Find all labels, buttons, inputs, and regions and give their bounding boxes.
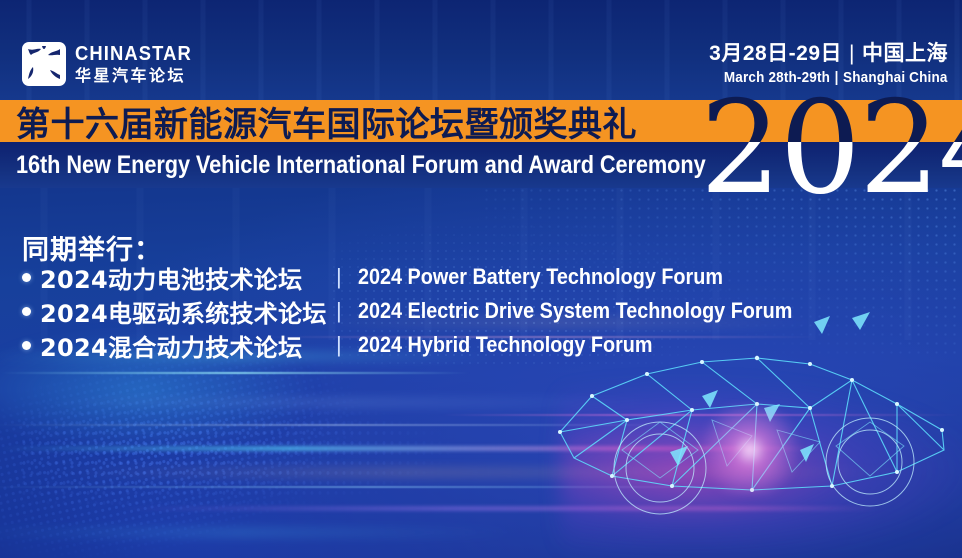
forum-divider: | (336, 332, 342, 358)
chinastar-logo[interactable]: CHINASTAR 华星汽车论坛 (22, 42, 202, 86)
forum-divider: | (336, 298, 342, 324)
forum-name-chinese: 2024混合动力技术论坛 (40, 328, 336, 363)
forum-list-item: 2024电驱动系统技术论坛 | 2024 Electric Drive Syst… (22, 296, 840, 326)
location-en-value: Shanghai China (843, 69, 948, 86)
forum-name-chinese: 2024电驱动系统技术论坛 (40, 294, 336, 329)
forum-divider: | (336, 264, 342, 290)
date-english-line: March 28th-29th|Shanghai China (724, 69, 948, 86)
forum-name-chinese: 2024动力电池技术论坛 (40, 260, 336, 295)
forum-name-english: 2024 Electric Drive System Technology Fo… (358, 298, 792, 324)
forum-name-english: 2024 Hybrid Technology Forum (358, 332, 652, 358)
location-cn-value: 中国上海 (862, 42, 948, 65)
date-cn-separator: | (842, 42, 862, 65)
date-en-separator: | (830, 69, 843, 86)
date-chinese-line: 3月28日-29日|中国上海 (699, 42, 948, 66)
date-location-block: 3月28日-29日|中国上海 March 28th-29th|Shanghai … (699, 42, 948, 86)
glow-hotspot (690, 405, 810, 495)
bullet-icon (22, 341, 31, 350)
event-banner: CHINASTAR 华星汽车论坛 3月28日-29日|中国上海 March 28… (0, 0, 962, 558)
concurrent-forum-list: 2024动力电池技术论坛 | 2024 Power Battery Techno… (22, 262, 840, 364)
bullet-icon (22, 273, 31, 282)
logo-chinese-name: 华星汽车论坛 (75, 69, 202, 85)
main-title-chinese: 第十六届新能源汽车国际论坛暨颁奖典礼 (16, 100, 637, 142)
forum-name-english: 2024 Power Battery Technology Forum (358, 264, 723, 290)
forum-list-item: 2024混合动力技术论坛 | 2024 Hybrid Technology Fo… (22, 330, 840, 360)
date-en-value: March 28th-29th (724, 69, 830, 86)
star-burst-emblem-icon (22, 42, 66, 86)
logo-english-name: CHINASTAR (75, 44, 192, 64)
bullet-icon (22, 307, 31, 316)
main-title-english: 16th New Energy Vehicle International Fo… (16, 142, 706, 188)
forum-list-item: 2024动力电池技术论坛 | 2024 Power Battery Techno… (22, 262, 840, 292)
date-cn-value: 3月28日-29日 (709, 42, 842, 65)
